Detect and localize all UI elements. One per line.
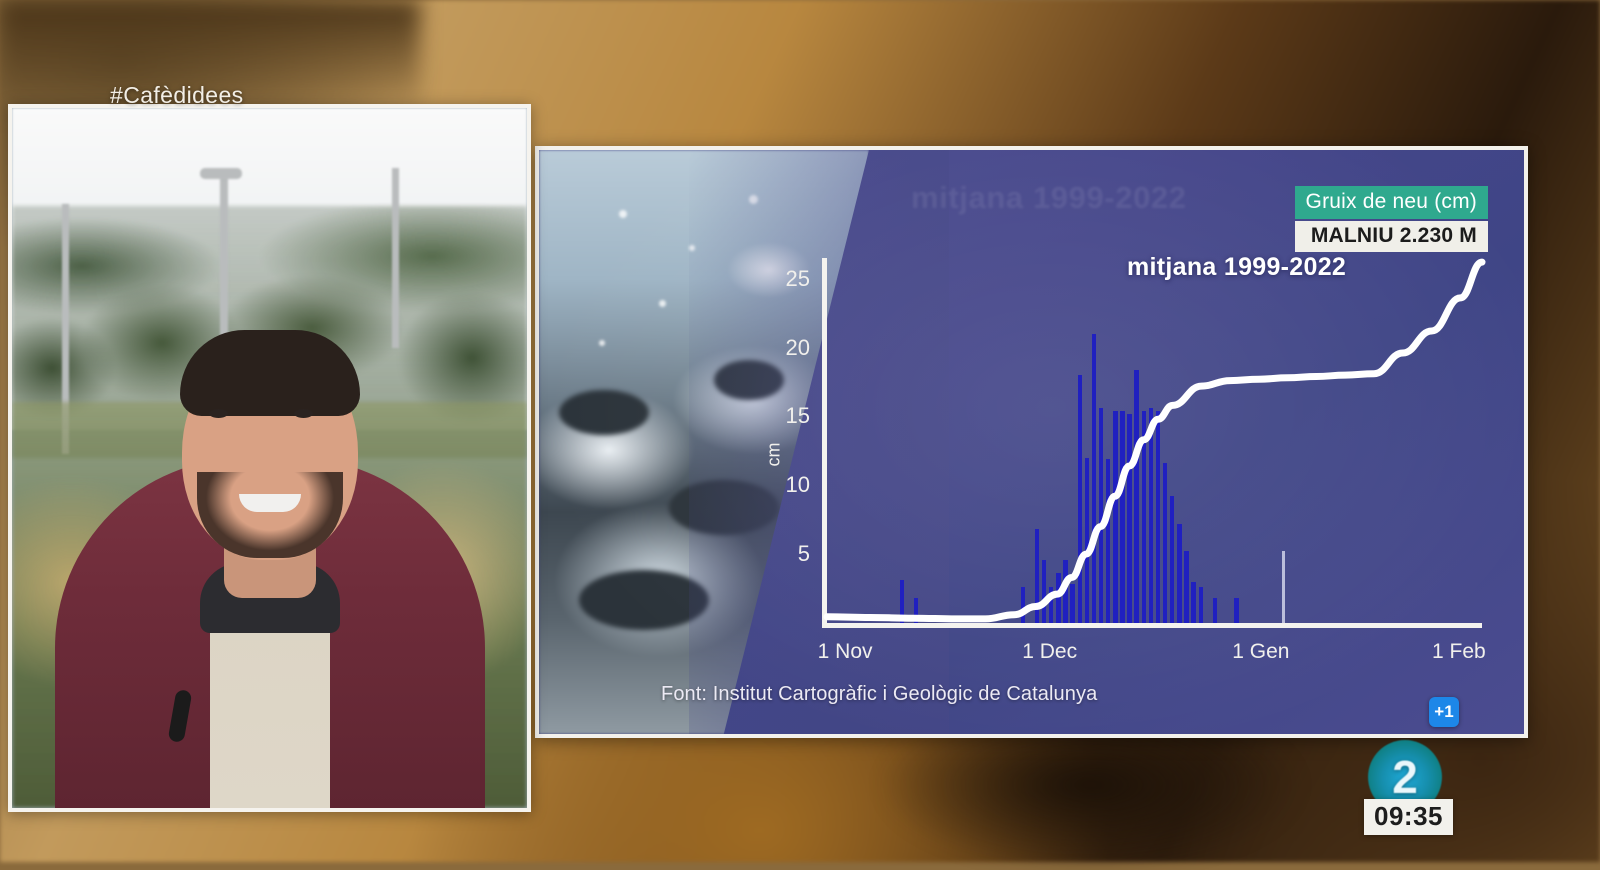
ghost-title-text: mitjana 1999-2022 xyxy=(911,180,1187,216)
reporter-eye-left xyxy=(209,409,228,418)
x-tick-label-1: 1 Dec xyxy=(1022,640,1077,664)
y-tick-label-10: 10 xyxy=(786,472,810,498)
on-air-clock: 09:35 xyxy=(1364,799,1453,835)
mean-line-path xyxy=(827,262,1482,619)
reporter-video-inset xyxy=(8,104,531,812)
reporter-eye-right xyxy=(294,409,313,418)
program-hashtag: #Cafèdidees xyxy=(110,82,244,109)
photo-lamp-head xyxy=(200,168,242,179)
mean-line-annotation: mitjana 1999-2022 xyxy=(1127,253,1346,282)
chart-plot-area: cm 510152025 1 Nov1 Dec1 Gen1 Feb mitjan… xyxy=(822,258,1482,628)
reporter-hair xyxy=(180,330,360,416)
y-tick-label-20: 20 xyxy=(786,335,810,361)
x-tick-label-0: 1 Nov xyxy=(818,640,873,664)
plus-one-badge: +1 xyxy=(1429,697,1459,727)
y-axis-title: cm xyxy=(764,442,785,466)
legend-station: MALNIU 2.230 M xyxy=(1295,221,1488,252)
y-tick-label-15: 15 xyxy=(786,403,810,429)
y-tick-label-25: 25 xyxy=(786,266,810,292)
x-tick-label-3: 1 Feb xyxy=(1432,640,1486,664)
legend-title: Gruix de neu (cm) xyxy=(1295,186,1488,219)
photo-lamppost-3 xyxy=(392,168,399,348)
y-tick-label-5: 5 xyxy=(798,541,810,567)
source-credit: Font: Institut Cartogràfic i Geològic de… xyxy=(661,683,1097,706)
reporter-mouth xyxy=(239,494,301,512)
mean-line-series xyxy=(822,258,1482,628)
x-tick-label-2: 1 Gen xyxy=(1232,640,1289,664)
weather-graphic-panel: mitjana 1999-2022 Gruix de neu (cm) MALN… xyxy=(535,146,1528,738)
legend-block: Gruix de neu (cm) MALNIU 2.230 M xyxy=(1295,186,1488,252)
